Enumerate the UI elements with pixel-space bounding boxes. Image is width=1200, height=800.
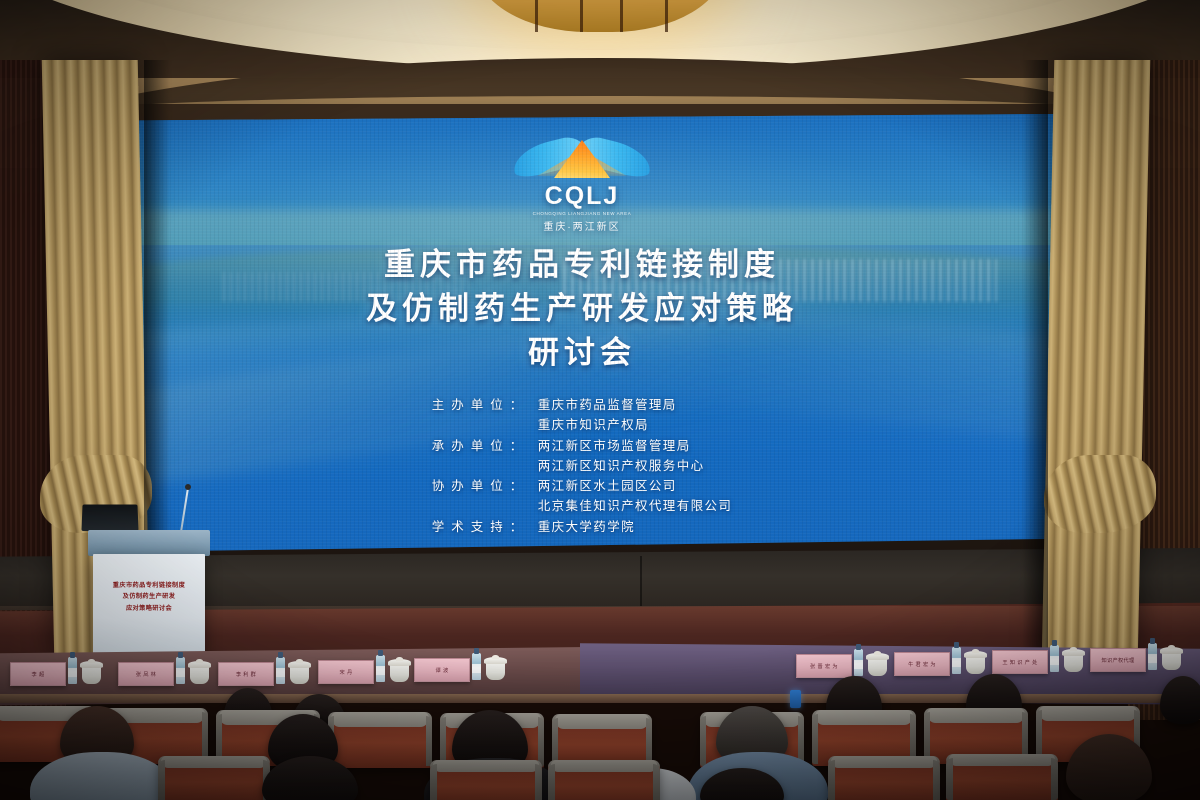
organizer-value: 两江新区市场监督管理局 [538, 436, 705, 456]
screen-content: CQLJ CHONGQING LIANGJIANG NEW AREA 重庆·两江… [110, 114, 1054, 552]
teacup-knob [1070, 647, 1077, 651]
name-placard: 李 利 群 [218, 662, 274, 686]
podium-laptop [81, 504, 138, 531]
table-setting: 知识产权代理 [1090, 632, 1186, 678]
name-placard: 谭 波 [414, 658, 470, 682]
table-setting: 王 知 识 产 处 [992, 634, 1088, 680]
name-placard: 李 超 [10, 662, 66, 686]
auditorium-seat [828, 756, 940, 800]
water-bottle [176, 657, 185, 684]
podium-top [88, 530, 210, 556]
water-bottle [276, 657, 285, 684]
water-bottle [854, 649, 863, 676]
name-placard: 张 晋 宏 为 [796, 654, 852, 678]
name-placard: 王 知 识 产 处 [992, 650, 1048, 674]
organizer-values: 两江新区水土园区公司 北京集佳知识产权代理有限公司 [538, 476, 733, 517]
curtain-tieback-right [1044, 455, 1156, 533]
title-line-1: 重庆市药品专利链接制度 [366, 243, 798, 287]
organizer-value: 重庆市知识产权局 [538, 415, 677, 435]
conference-title: 重庆市药品专利链接制度 及仿制药生产研发应对策略 研讨会 [366, 243, 798, 375]
organizer-values: 两江新区市场监督管理局 两江新区知识产权服务中心 [538, 436, 705, 477]
organizer-value: 重庆大学药学院 [538, 517, 635, 537]
name-placard: 张 凤 林 [118, 662, 174, 686]
organizer-values: 重庆市药品监督管理局 重庆市知识产权局 [538, 395, 677, 436]
title-line-3: 研讨会 [366, 331, 798, 375]
organizer-list: 主办单位： 重庆市药品监督管理局 重庆市知识产权局 承办单位： 两江新区市场监督… [432, 395, 733, 552]
logo-chinese-name: 重庆·两江新区 [543, 218, 620, 233]
teacup-knob [492, 655, 499, 659]
teacup-knob [396, 657, 403, 661]
curtain-right [1042, 60, 1151, 660]
name-placard: 宋 丹 [318, 660, 374, 684]
wing-bird-icon [512, 138, 652, 186]
auditorium-seat [430, 760, 542, 800]
water-bottle [952, 647, 961, 674]
water-bottle [472, 653, 481, 680]
teacup-knob [972, 649, 979, 653]
auditorium-seat [548, 760, 660, 800]
name-placard: 知识产权代理 [1090, 648, 1146, 672]
auditorium-seat [946, 754, 1058, 800]
cqlj-logo: CQLJ CHONGQING LIANGJIANG NEW AREA 重庆·两江… [507, 138, 657, 233]
table-setting: 李 利 群 [218, 646, 314, 692]
podium-sign-line-1: 重庆市药品专利链接制度 [101, 580, 197, 591]
organizer-label: 承办单位： [432, 436, 524, 477]
auditorium-seat [158, 756, 270, 800]
podium-sign-line-3: 应对策略研讨会 [101, 603, 197, 614]
organizer-row: 承办单位： 两江新区市场监督管理局 两江新区知识产权服务中心 [432, 436, 733, 477]
teacup-knob [88, 659, 95, 663]
table-setting: 牛 君 宏 为 [894, 636, 990, 682]
stage-skirt-seam [640, 556, 642, 606]
curtain-shadow-right [1022, 60, 1048, 660]
podium-sign: 重庆市药品专利链接制度 及仿制药生产研发 应对策略研讨会 [101, 580, 197, 614]
smartphone [790, 690, 801, 708]
name-placard: 牛 君 宏 为 [894, 652, 950, 676]
organizer-label: 协办单位： [432, 476, 524, 517]
teacup-knob [196, 659, 203, 663]
table-setting: 谭 波 [414, 642, 510, 688]
table-setting: 张 凤 林 [118, 646, 214, 692]
water-bottle [1148, 643, 1157, 670]
organizer-value: 重庆市药品监督管理局 [538, 395, 677, 415]
water-bottle [376, 655, 385, 682]
table-setting: 宋 丹 [318, 644, 414, 690]
organizer-row: 主办单位： 重庆市药品监督管理局 重庆市知识产权局 [432, 395, 733, 436]
logo-acronym: CQLJ [545, 184, 620, 209]
organizer-label: 主办单位： [432, 395, 524, 436]
organizer-row: 协办单位： 两江新区水土园区公司 北京集佳知识产权代理有限公司 [432, 476, 733, 517]
seat-row-middle [0, 700, 1200, 760]
microphone-icon [185, 484, 191, 490]
organizer-value: 北京集佳知识产权代理有限公司 [538, 496, 733, 516]
organizer-value: 两江新区水土园区公司 [538, 476, 733, 496]
podium-sign-line-2: 及仿制药生产研发 [101, 591, 197, 602]
logo-pinyin: CHONGQING LIANGJIANG NEW AREA [533, 211, 632, 216]
led-screen: CQLJ CHONGQING LIANGJIANG NEW AREA 重庆·两江… [110, 114, 1054, 552]
water-bottle [68, 657, 77, 684]
title-line-2: 及仿制药生产研发应对策略 [366, 287, 798, 331]
seat-row-front [0, 756, 1200, 800]
table-setting: 李 超 [10, 646, 106, 692]
teacup-knob [296, 659, 303, 663]
teacup-knob [874, 651, 881, 655]
organizer-value: 两江新区知识产权服务中心 [538, 456, 705, 476]
conference-hall-photo: CQLJ CHONGQING LIANGJIANG NEW AREA 重庆·两江… [0, 0, 1200, 800]
teacup-knob [1168, 645, 1175, 649]
water-bottle [1050, 645, 1059, 672]
